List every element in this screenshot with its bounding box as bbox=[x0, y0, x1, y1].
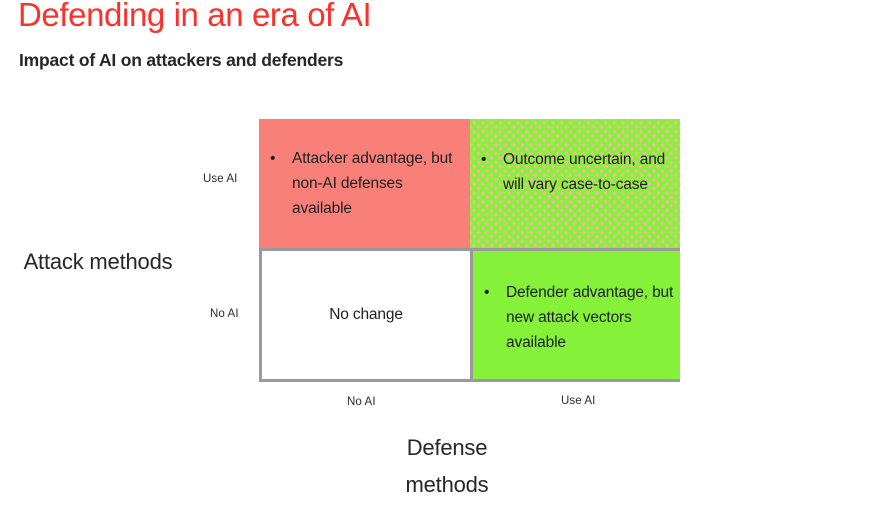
page-subtitle: Impact of AI on attackers and defenders bbox=[19, 50, 343, 71]
y-axis-tick-use-ai: Use AI bbox=[203, 173, 237, 185]
cell-bullet-item: • Defender advantage, but new attack vec… bbox=[482, 280, 678, 355]
matrix-cell-outcome-uncertain: • Outcome uncertain, and will vary case-… bbox=[470, 119, 680, 248]
cell-text: No change bbox=[262, 251, 470, 379]
matrix-cell-no-change: No change bbox=[259, 248, 470, 382]
y-axis-tick-no-ai: No AI bbox=[210, 308, 239, 320]
y-axis-title: Attack methods bbox=[16, 243, 180, 280]
impact-matrix: • Attacker advantage, but non-AI defense… bbox=[259, 119, 680, 382]
x-axis-tick-use-ai: Use AI bbox=[561, 395, 595, 407]
cell-text: Defender advantage, but new attack vecto… bbox=[506, 280, 678, 355]
cell-text: Outcome uncertain, and will vary case-to… bbox=[503, 147, 675, 197]
bullet-icon: • bbox=[268, 146, 292, 171]
x-axis-tick-no-ai: No AI bbox=[347, 396, 376, 408]
cell-text: Attacker advantage, but non-AI defenses … bbox=[292, 146, 464, 221]
x-axis-title: Defense methods bbox=[365, 429, 529, 503]
bullet-icon: • bbox=[479, 147, 503, 172]
matrix-cell-defender-advantage: • Defender advantage, but new attack vec… bbox=[470, 248, 680, 382]
cell-bullet-item: • Attacker advantage, but non-AI defense… bbox=[268, 146, 464, 221]
matrix-cell-attacker-advantage: • Attacker advantage, but non-AI defense… bbox=[259, 119, 470, 248]
bullet-icon: • bbox=[482, 280, 506, 305]
cell-bullet-item: • Outcome uncertain, and will vary case-… bbox=[479, 147, 675, 197]
page-title: Defending in an era of AI bbox=[18, 0, 371, 34]
